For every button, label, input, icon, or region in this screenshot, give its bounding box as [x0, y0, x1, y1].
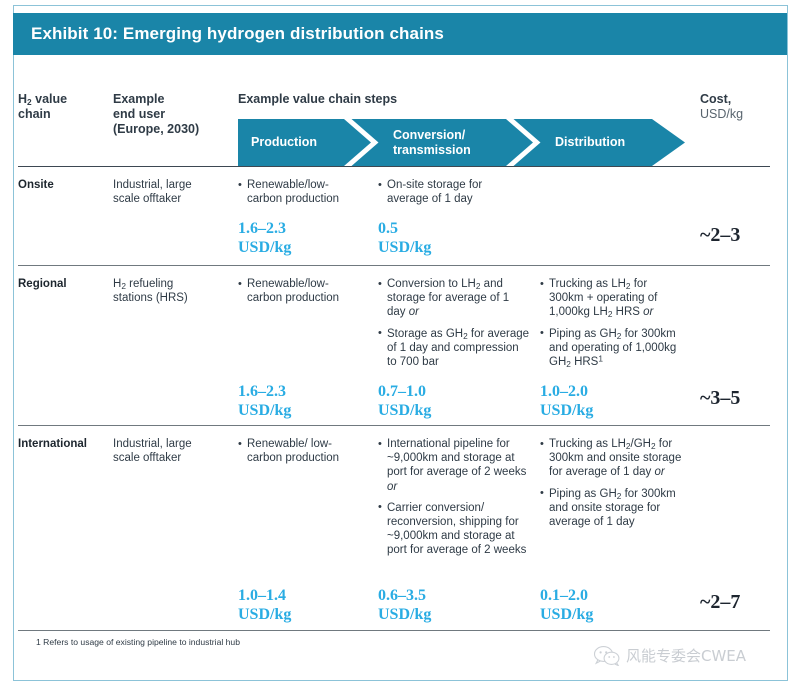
price-value: 0.7–1.0	[378, 383, 426, 400]
column-header-cost: Cost, USD/kg	[700, 92, 784, 122]
price-production-regional: 1.6–2.3 USD/kg	[238, 383, 291, 420]
column-header-end-user-line1: Example	[113, 92, 164, 106]
row-production-regional: Renewable/low-carbon production	[238, 277, 370, 305]
table-rule-1	[18, 265, 770, 266]
price-conversion-international: 0.6–3.5 USD/kg	[378, 587, 431, 624]
bullet-list: Renewable/low-carbon production	[238, 178, 370, 206]
row-end-user-regional: H2 refueling stations (HRS)	[113, 277, 228, 305]
row-end-user-onsite-line1: Industrial, large	[113, 179, 192, 191]
list-item: Trucking as LH2 for 300km + operating of…	[540, 277, 680, 320]
row-conversion-international: International pipeline for ~9,000km and …	[378, 437, 530, 558]
row-name-international: International	[18, 438, 87, 450]
bullet-list: International pipeline for ~9,000km and …	[378, 437, 530, 558]
price-unit: USD/kg	[378, 402, 431, 419]
arrow-step-label-production: Production	[251, 135, 317, 150]
table-row: Onsite	[18, 178, 54, 192]
column-header-value-chain: H2 value chain	[18, 92, 108, 122]
bullet-list: Conversion to LH2 and storage for averag…	[378, 277, 530, 369]
arrow-step-label-distribution: Distribution	[555, 135, 625, 150]
value-chain-arrow-band: Production Conversion/ transmission Dist…	[238, 119, 685, 166]
watermark-text: 风能专委会CWEA	[626, 645, 746, 666]
column-header-value-chain-line1: H2 value	[18, 92, 67, 106]
arrow-step-label-conversion-line2: transmission	[393, 143, 471, 157]
exhibit-title-band: Exhibit 10: Emerging hydrogen distributi…	[13, 13, 787, 55]
price-unit: USD/kg	[238, 239, 291, 256]
list-item: Piping as GH2 for 300km and operating of…	[540, 327, 680, 370]
list-item: Renewable/ low-carbon production	[238, 437, 370, 465]
column-header-value-chain-line2: chain	[18, 107, 51, 121]
list-item: Renewable/low-carbon production	[238, 277, 370, 305]
row-distribution-regional: Trucking as LH2 for 300km + operating of…	[540, 277, 680, 369]
bullet-list: Trucking as LH2/GH2 for 300km and onsite…	[540, 437, 682, 529]
column-header-cost-unit: USD/kg	[700, 107, 784, 122]
price-conversion-regional: 0.7–1.0 USD/kg	[378, 383, 431, 420]
row-conversion-onsite: On-site storage foraverage of 1 day	[378, 178, 528, 206]
price-conversion-onsite: 0.5 USD/kg	[378, 220, 431, 257]
cost-total-regional: ~3–5	[700, 387, 740, 410]
row-end-user-international-line2: scale offtaker	[113, 452, 181, 464]
table-rule-top	[18, 166, 770, 167]
row-end-user-onsite-line2: scale offtaker	[113, 193, 181, 205]
row-end-user-onsite: Industrial, large scale offtaker	[113, 178, 225, 206]
row-end-user-international-line1: Industrial, large	[113, 438, 192, 450]
cost-total-international: ~2–7	[700, 591, 740, 614]
price-unit: USD/kg	[378, 606, 431, 623]
price-production-onsite: 1.6–2.3 USD/kg	[238, 220, 291, 257]
exhibit-title: Exhibit 10: Emerging hydrogen distributi…	[31, 24, 444, 44]
list-item: Renewable/low-carbon production	[238, 178, 370, 206]
exhibit-page: Exhibit 10: Emerging hydrogen distributi…	[0, 0, 800, 695]
price-unit: USD/kg	[238, 606, 291, 623]
row-end-user-regional-line2: stations (HRS)	[113, 292, 188, 304]
list-item: International pipeline for ~9,000km and …	[378, 437, 530, 494]
row-production-international: Renewable/ low-carbon production	[238, 437, 370, 465]
row-name-regional: Regional	[18, 278, 67, 290]
price-unit: USD/kg	[540, 606, 593, 623]
price-value: 1.0–2.0	[540, 383, 588, 400]
row-name-onsite: Onsite	[18, 179, 54, 191]
arrow-step-label-conversion-line1: Conversion/	[393, 128, 465, 142]
price-value: 0.6–3.5	[378, 587, 426, 604]
column-header-cost-label: Cost,	[700, 92, 731, 106]
table-row: Regional	[18, 277, 67, 291]
table-rule-2	[18, 425, 770, 426]
column-header-end-user: Example end user (Europe, 2030)	[113, 92, 225, 137]
footnote: 1 Refers to usage of existing pipeline t…	[36, 637, 240, 647]
list-item: Piping as GH2 for 300km and onsite stora…	[540, 487, 682, 530]
price-distribution-regional: 1.0–2.0 USD/kg	[540, 383, 593, 420]
list-item: Conversion to LH2 and storage for averag…	[378, 277, 530, 320]
row-end-user-international: Industrial, large scale offtaker	[113, 437, 228, 465]
bullet-list: Renewable/low-carbon production	[238, 277, 370, 305]
cost-total-onsite: ~2–3	[700, 224, 740, 247]
arrow-step-label-conversion: Conversion/ transmission	[393, 128, 471, 157]
watermark: 风能专委会CWEA	[594, 645, 746, 666]
price-value: 1.6–2.3	[238, 220, 286, 237]
column-header-end-user-line3: (Europe, 2030)	[113, 122, 199, 136]
price-value: 0.5	[378, 220, 398, 237]
price-distribution-international: 0.1–2.0 USD/kg	[540, 587, 593, 624]
list-item: Carrier conversion/ reconversion, shippi…	[378, 501, 530, 558]
price-value: 0.1–2.0	[540, 587, 588, 604]
price-value: 1.0–1.4	[238, 587, 286, 604]
bullet-list: Trucking as LH2 for 300km + operating of…	[540, 277, 680, 369]
price-value: 1.6–2.3	[238, 383, 286, 400]
row-distribution-international: Trucking as LH2/GH2 for 300km and onsite…	[540, 437, 682, 529]
price-unit: USD/kg	[378, 239, 431, 256]
bullet-list: On-site storage foraverage of 1 day	[378, 178, 528, 206]
list-item: Trucking as LH2/GH2 for 300km and onsite…	[540, 437, 682, 480]
list-item: On-site storage foraverage of 1 day	[378, 178, 528, 206]
price-production-international: 1.0–1.4 USD/kg	[238, 587, 291, 624]
row-conversion-regional: Conversion to LH2 and storage for averag…	[378, 277, 530, 369]
row-production-onsite: Renewable/low-carbon production	[238, 178, 370, 206]
column-header-value-chain-steps: Example value chain steps	[238, 92, 498, 107]
price-unit: USD/kg	[238, 402, 291, 419]
table-row: International	[18, 437, 87, 451]
bullet-list: Renewable/ low-carbon production	[238, 437, 370, 465]
price-unit: USD/kg	[540, 402, 593, 419]
wechat-icon	[594, 646, 620, 666]
row-end-user-regional-line1: H2 refueling	[113, 278, 173, 290]
table-rule-3	[18, 630, 770, 631]
list-item: Storage as GH2 for average of 1 day and …	[378, 327, 530, 370]
column-header-end-user-line2: end user	[113, 107, 165, 121]
